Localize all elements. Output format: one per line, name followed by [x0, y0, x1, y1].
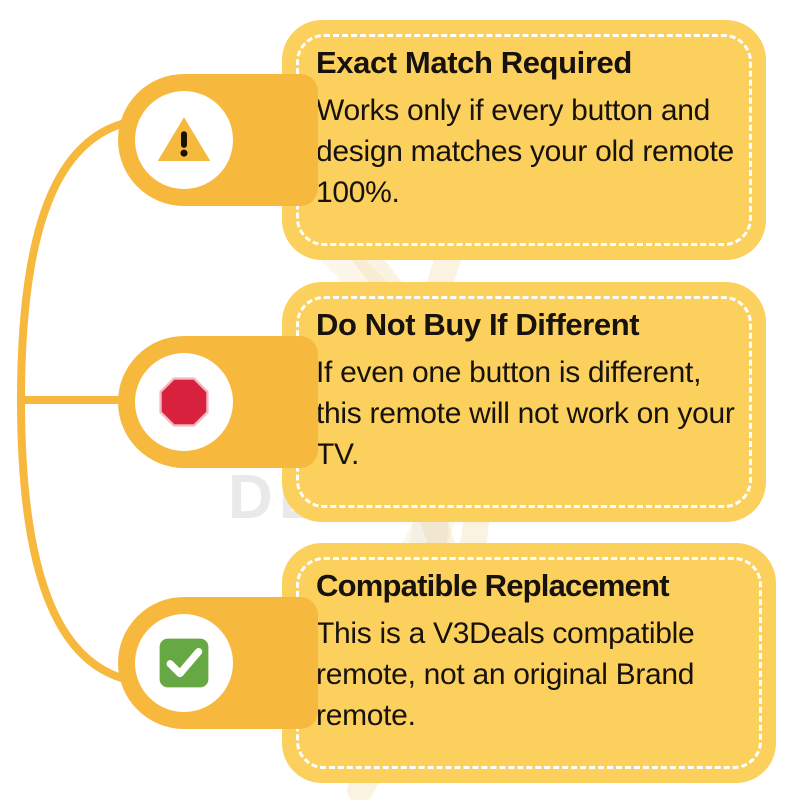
check-square-icon: [135, 614, 233, 712]
info-card-2: Do Not Buy If Different If even one butt…: [282, 282, 766, 522]
card-body: If even one button is different, this re…: [316, 352, 744, 475]
warning-triangle-icon: [135, 91, 233, 189]
card-title: Do Not Buy If Different: [316, 306, 744, 344]
info-row-1: Exact Match Required Works only if every…: [0, 20, 800, 270]
badge-3: [118, 597, 318, 729]
info-row-2: Do Not Buy If Different If even one butt…: [0, 282, 800, 532]
card-text-block: Compatible Replacement This is a V3Deals…: [316, 567, 754, 736]
card-text-block: Do Not Buy If Different If even one butt…: [316, 306, 744, 475]
badge-2: [118, 336, 318, 468]
info-row-3: Compatible Replacement This is a V3Deals…: [0, 543, 800, 793]
card-body: This is a V3Deals compatible remote, not…: [316, 613, 754, 736]
stop-octagon-icon: [135, 353, 233, 451]
infographic-canvas: DEALS Exact Match Required Works only if…: [0, 0, 800, 800]
card-text-block: Exact Match Required Works only if every…: [316, 44, 744, 213]
info-card-1: Exact Match Required Works only if every…: [282, 20, 766, 260]
card-title: Exact Match Required: [316, 44, 744, 82]
info-card-3: Compatible Replacement This is a V3Deals…: [282, 543, 776, 783]
badge-1: [118, 74, 318, 206]
card-body: Works only if every button and design ma…: [316, 90, 744, 213]
card-title: Compatible Replacement: [316, 567, 754, 605]
